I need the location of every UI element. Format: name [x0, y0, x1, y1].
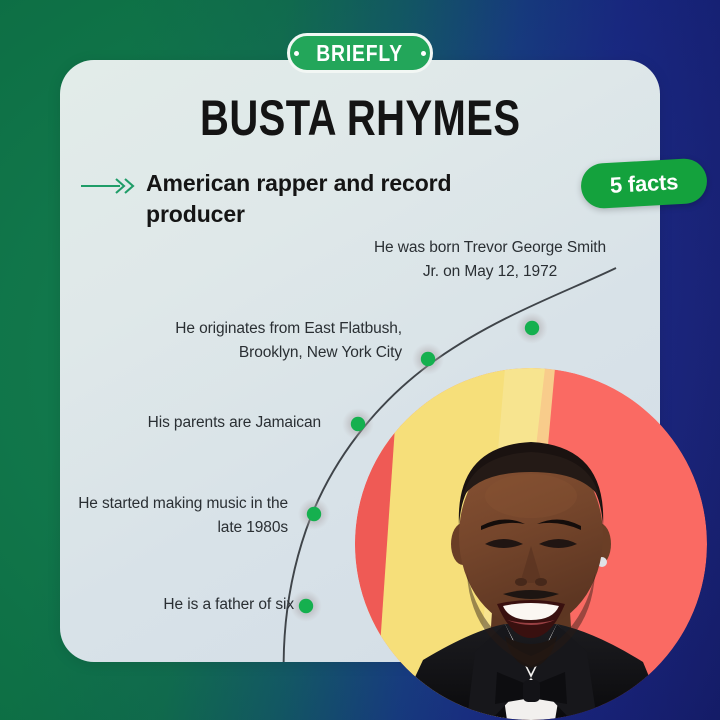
- page-title-text: BUSTA RHYMES: [200, 93, 520, 143]
- page-title: BUSTA RHYMES: [0, 93, 720, 143]
- subtitle-text: American rapper and record producer: [146, 168, 510, 230]
- infographic-card: He was born Trevor George Smith Jr. on M…: [0, 0, 720, 720]
- fact-text-born: He was born Trevor George Smith Jr. on M…: [372, 236, 608, 283]
- double-chevron-right-arrow-icon: [80, 178, 136, 194]
- facts-count-badge: 5 facts: [580, 158, 708, 210]
- portrait-illustration: [355, 368, 707, 720]
- briefly-logo[interactable]: BRIEFLY: [287, 33, 433, 73]
- subtitle-row: American rapper and record producer: [80, 168, 510, 230]
- fact-text-children: He is a father of six: [120, 593, 294, 617]
- portrait-photo: [355, 368, 707, 720]
- logo-dot-left: [294, 51, 299, 56]
- fact-text-career-start: He started making music in the late 1980…: [66, 492, 288, 539]
- fact-text-parents: His parents are Jamaican: [118, 411, 321, 435]
- logo-wordmark: BRIEFLY: [317, 42, 404, 65]
- fact-text-origin: He originates from East Flatbush, Brookl…: [126, 317, 402, 364]
- logo-dot-right: [421, 51, 426, 56]
- facts-count-label: 5 facts: [609, 169, 679, 199]
